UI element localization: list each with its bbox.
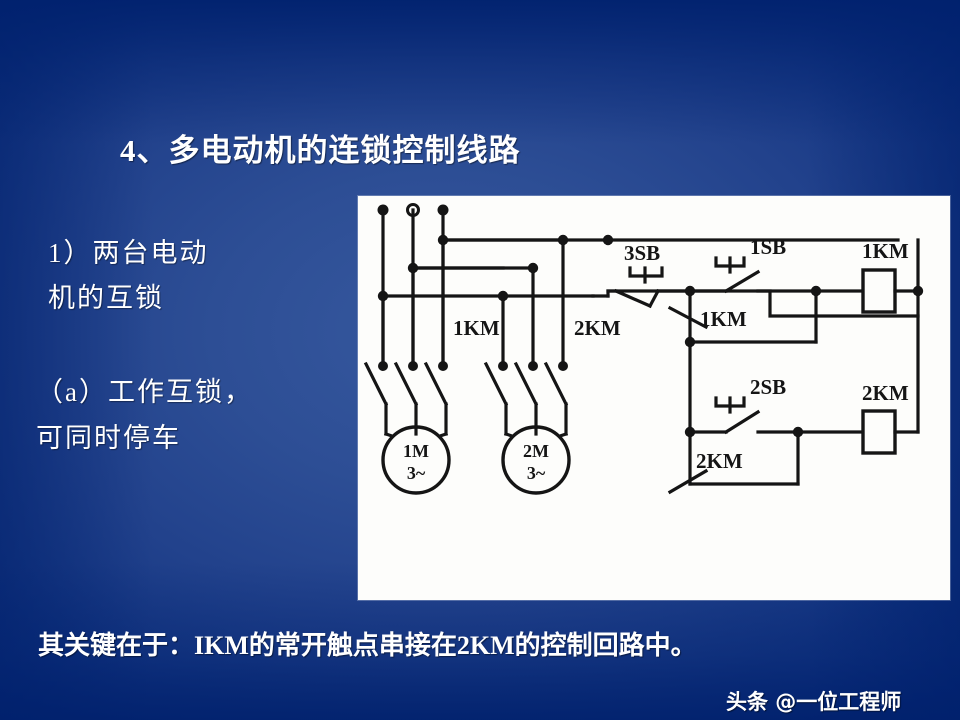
contact-dot-2a <box>498 361 508 371</box>
label-2km-coil: 2KM <box>862 381 909 405</box>
contact-1km-pole-b <box>396 364 416 434</box>
motor-1-designation: 1M <box>403 441 429 461</box>
motor-1-type: 3~ <box>407 463 426 483</box>
junction-2km-b <box>528 263 538 273</box>
junction-2km-c <box>558 235 568 245</box>
contact-dot-2b <box>528 361 538 371</box>
label-2km-holding: 2KM <box>696 449 743 473</box>
contact-1km-pole-c <box>426 364 446 434</box>
label-1km-holding: 1KM <box>700 307 747 331</box>
contact-dot-1b <box>408 361 418 371</box>
watermark-label: 头条 @一位工程师 <box>726 686 901 716</box>
contact-dot-2c <box>558 361 568 371</box>
contact-2km-pole-a <box>486 364 506 434</box>
start-button-1sb-actuator <box>716 258 744 272</box>
subtitle-item-1: 1）两台电动 机的互锁 <box>48 231 348 321</box>
motor-2-designation: 2M <box>523 441 549 461</box>
junction-bus-right <box>603 235 613 245</box>
motor-2-lead-c <box>560 434 566 436</box>
motor-2-lead-a <box>506 434 512 436</box>
node-return-rail <box>913 286 923 296</box>
subtitle-item-2: （a）工作互锁， 可同时停车 <box>36 369 366 461</box>
coil-2km-body <box>863 411 895 453</box>
stop-button-3sb-contact <box>616 291 690 306</box>
coil-1km-body <box>863 270 895 312</box>
label-2sb: 2SB <box>750 375 786 399</box>
label-3sb: 3SB <box>624 241 660 265</box>
motor-2-type: 3~ <box>527 463 546 483</box>
start-button-2sb-actuator <box>716 398 744 412</box>
contact-dot-1c <box>438 361 448 371</box>
slide-canvas: 4、多电动机的连锁控制线路 1）两台电动 机的互锁 （a）工作互锁， 可同时停车… <box>0 0 960 720</box>
label-1km-main: 1KM <box>453 316 500 340</box>
bottom-note: 其关键在于：IKM的常开触点串接在2KM的控制回路中。 <box>38 625 697 662</box>
start-button-2sb-contact <box>690 412 798 432</box>
page-title: 4、多电动机的连锁控制线路 <box>120 131 521 171</box>
terminal-dot-L3 <box>438 205 449 216</box>
terminal-dot-L1 <box>378 205 389 216</box>
start-button-1sb-contact <box>690 272 816 291</box>
label-2km-main: 2KM <box>574 316 621 340</box>
contact-2km-pole-b <box>516 364 536 434</box>
stop-button-3sb-actuator <box>630 268 662 282</box>
label-1sb: 1SB <box>750 235 786 259</box>
motor-1-lead-a <box>386 434 392 436</box>
circuit-diagram-panel: 1KM 2KM 3SB 1SB 1KM 1KM 2SB 2KM 2KM 1M 3… <box>358 196 950 600</box>
contact-1km-pole-a <box>366 364 386 434</box>
motor-1-lead-c <box>440 434 446 436</box>
contact-dot-1a <box>378 361 388 371</box>
label-1km-coil: 1KM <box>862 239 909 263</box>
contact-2km-pole-c <box>546 364 566 434</box>
